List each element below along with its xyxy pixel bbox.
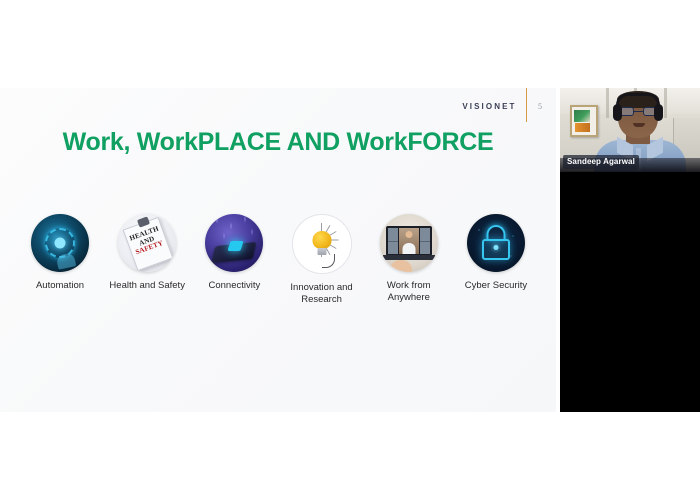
icon-label: Health and Safety [109,280,185,292]
padlock-keyhole-shape [493,245,498,250]
laptop-base-shape [383,255,435,260]
icon-label: Innovation and Research [280,282,364,306]
presentation-slide: VISIONET 5 Work, WorkPLACE AND WorkFORCE… [0,88,556,412]
meeting-screenshot: VISIONET 5 Work, WorkPLACE AND WorkFORCE… [0,0,700,500]
ceiling-beam [664,88,667,118]
video-call-laptop-icon [380,214,438,272]
connectivity-tablet-icon [205,214,263,272]
eyeglasses-icon [620,107,657,116]
lightbulb-cord-shape [322,254,335,268]
brand-logo-block: VISIONET 5 [462,88,542,126]
slide-title: Work, WorkPLACE AND WorkFORCE [0,128,556,157]
icon-label: Automation [36,280,84,292]
visionet-logo-text: VISIONET [462,103,516,111]
icon-item-innovation-and-research: Innovation and Research [280,214,364,306]
participant-tiles-left [388,228,398,254]
participant-tiles-right [420,228,430,254]
icon-item-cyber-security: Cyber Security [454,214,538,292]
participant-name-label: Sandeep Agarwal [563,155,639,169]
lightbulb-glass-shape [312,231,331,249]
icon-item-health-and-safety: HEALTH AND SAFETY Health and Safety [105,214,189,292]
icon-label: Work from Anywhere [367,280,451,304]
video-participant-column[interactable]: Sandeep Agarwal [560,88,700,412]
participant-tile-main [399,228,419,254]
icon-item-automation: Automation [18,214,102,292]
icon-row: Automation HEALTH AND SAFETY Health and … [18,214,538,306]
padlock-shackle-shape [486,225,505,240]
meeting-stage: VISIONET 5 Work, WorkPLACE AND WorkFORCE… [0,88,700,412]
logo-divider [526,88,528,122]
automation-core-shape [55,238,66,249]
hand-shape [390,260,412,272]
lightbulb-innovation-icon [292,214,352,274]
icon-label: Cyber Security [465,280,527,292]
laptop-screen-shape [386,226,432,256]
headphone-earcup-right [654,104,663,121]
empty-video-area [560,172,700,412]
padlock-cyber-security-icon [467,214,525,272]
headphone-earcup-left [613,104,622,121]
icon-item-work-from-anywhere: Work from Anywhere [367,214,451,304]
slide-number: 5 [538,103,542,111]
video-call-grid [388,228,430,254]
headphones-band [616,93,660,105]
wall-artwork-frame [570,105,598,137]
icon-label: Connectivity [209,280,261,292]
participant-video-tile[interactable]: Sandeep Agarwal [560,88,700,172]
clipboard-health-safety-icon: HEALTH AND SAFETY [118,214,176,272]
icon-item-connectivity: Connectivity [192,214,276,292]
automation-orb-icon [31,214,89,272]
ceiling-beam [606,88,609,118]
